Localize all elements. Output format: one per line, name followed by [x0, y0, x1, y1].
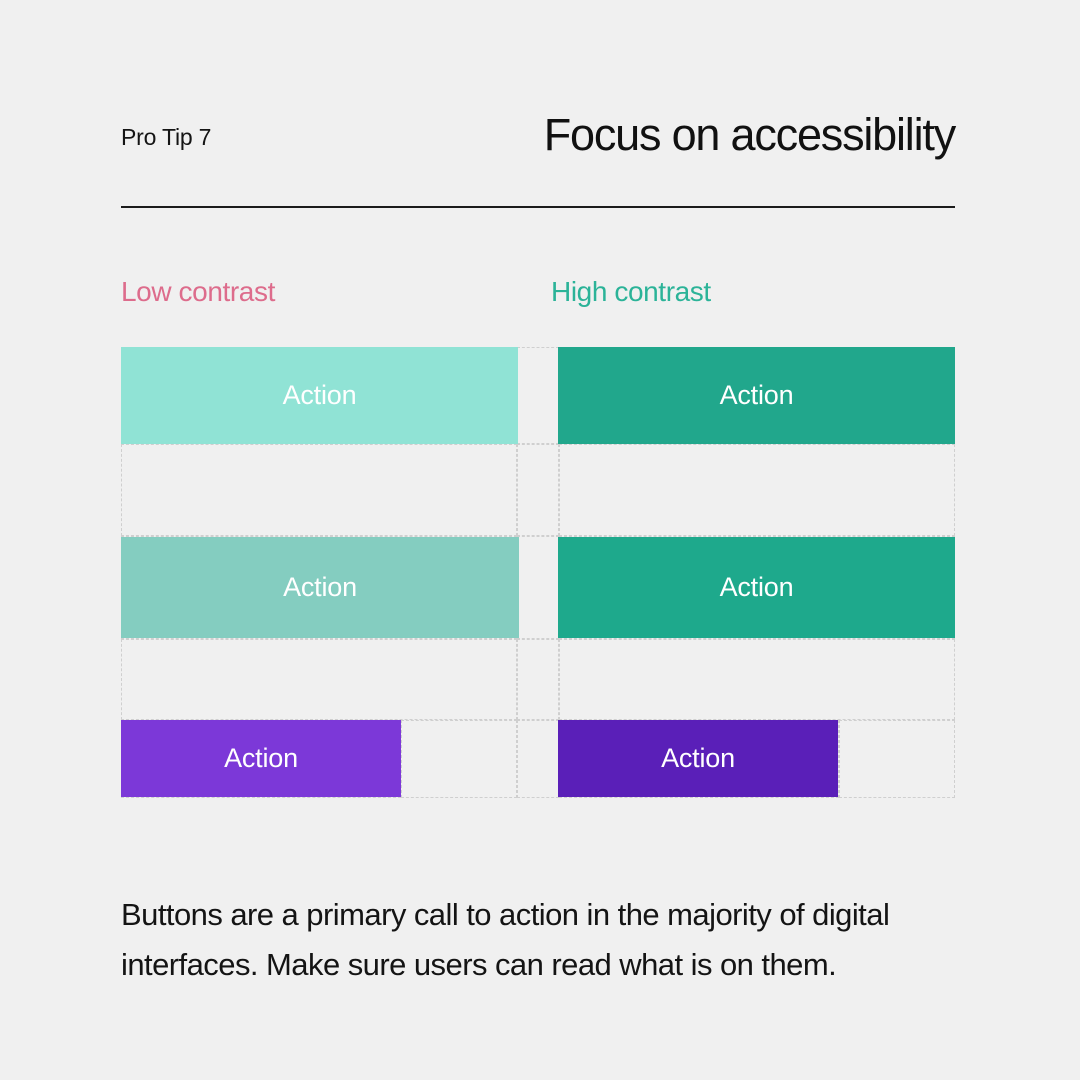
button-label: Action: [720, 382, 794, 409]
grid-guide-cell: [121, 444, 517, 536]
slide-canvas: Pro Tip 7 Focus on accessibility Low con…: [0, 0, 1080, 1080]
button-label: Action: [661, 745, 735, 772]
grid-guide-cell: [559, 639, 955, 720]
high-contrast-action-button-1[interactable]: Action: [558, 347, 955, 444]
button-label: Action: [283, 382, 357, 409]
low-contrast-action-button-3[interactable]: Action: [121, 720, 401, 797]
button-comparison-grid: Action Action Action Action Action Actio…: [121, 347, 955, 798]
kicker-label: Pro Tip 7: [121, 124, 211, 151]
column-heading-high-contrast: High contrast: [551, 276, 711, 308]
high-contrast-action-button-2[interactable]: Action: [558, 537, 955, 638]
high-contrast-action-button-3[interactable]: Action: [558, 720, 838, 797]
grid-guide-cell: [559, 444, 955, 536]
low-contrast-action-button-1[interactable]: Action: [121, 347, 518, 444]
grid-guide-cell: [517, 639, 559, 720]
grid-guide-cell: [121, 639, 517, 720]
column-heading-low-contrast: Low contrast: [121, 276, 275, 308]
button-label: Action: [720, 574, 794, 601]
button-label: Action: [283, 574, 357, 601]
grid-guide-cell: [517, 536, 559, 639]
header: Pro Tip 7 Focus on accessibility: [121, 110, 955, 170]
grid-guide-cell: [517, 444, 559, 536]
header-divider: [121, 206, 955, 208]
grid-guide-cell: [517, 720, 559, 798]
button-label: Action: [224, 745, 298, 772]
grid-guide-cell: [839, 720, 955, 798]
grid-guide-cell: [401, 720, 517, 798]
page-title: Focus on accessibility: [544, 110, 955, 160]
low-contrast-action-button-2[interactable]: Action: [121, 537, 519, 638]
caption-text: Buttons are a primary call to action in …: [121, 890, 991, 990]
grid-guide-cell: [517, 347, 559, 444]
